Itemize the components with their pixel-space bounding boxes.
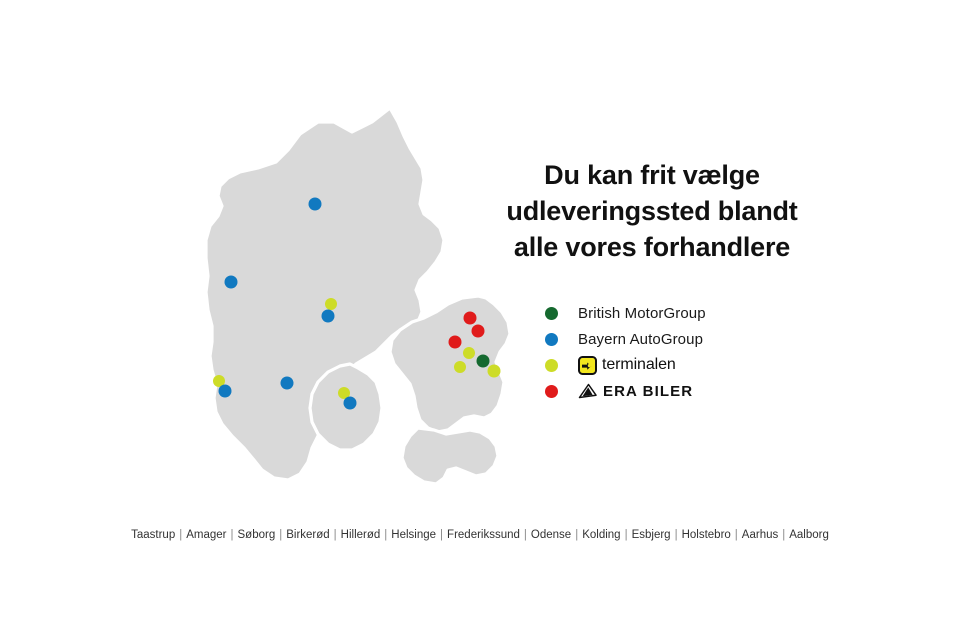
city-separator: | — [572, 529, 581, 541]
city-name: Kolding — [581, 529, 621, 541]
city-name: Odense — [530, 529, 572, 541]
city-name: Aalborg — [788, 529, 830, 541]
map-marker-soborg[interactable] — [477, 355, 490, 368]
legend-dot-terminalen — [545, 359, 558, 372]
legend-label-british-motorgroup: British MotorGroup — [578, 305, 706, 322]
city-name: Birkerød — [285, 529, 330, 541]
era-biler-wordmark: ERA BILER — [603, 383, 693, 400]
infographic-canvas: Du kan frit vælge udleveringssted blandt… — [0, 0, 960, 640]
map-marker-birkerod[interactable] — [463, 347, 475, 359]
legend-item-terminalen[interactable]: terminalen — [545, 352, 845, 378]
terminalen-wordmark: terminalen — [602, 356, 676, 374]
city-name: Søborg — [237, 529, 277, 541]
legend-dot-british-motorgroup — [545, 307, 558, 320]
city-separator: | — [732, 529, 741, 541]
map-marker-helsinge[interactable] — [464, 312, 477, 325]
map-marker-amager[interactable] — [488, 365, 501, 378]
legend-item-bayern-autogroup[interactable]: Bayern AutoGroup — [545, 326, 845, 352]
city-name: Aarhus — [741, 529, 779, 541]
city-name: Esbjerg — [631, 529, 672, 541]
legend-dot-bayern-autogroup — [545, 333, 558, 346]
city-name: Amager — [185, 529, 227, 541]
map-marker-kolding[interactable] — [281, 377, 294, 390]
legend-dot-era-biler — [545, 385, 558, 398]
terminalen-mark-icon — [578, 356, 597, 375]
map-marker-hillerod[interactable] — [472, 325, 485, 338]
terminalen-logo: terminalen — [578, 356, 676, 375]
map-marker-taastrup[interactable] — [454, 361, 466, 373]
headline-line-1: Du kan frit vælge — [452, 157, 852, 193]
era-biler-logo: ERA BILER — [578, 383, 693, 400]
region-lolland-falster — [402, 428, 498, 484]
city-separator: | — [672, 529, 681, 541]
city-name: Hillerød — [340, 529, 382, 541]
city-separator: | — [521, 529, 530, 541]
city-name: Taastrup — [130, 529, 176, 541]
city-separator: | — [381, 529, 390, 541]
city-separator: | — [437, 529, 446, 541]
era-triangle-icon — [578, 383, 598, 399]
denmark-map-svg — [185, 95, 525, 495]
city-list: Taastrup|Amager|Søborg|Birkerød|Hillerød… — [0, 529, 960, 541]
city-separator: | — [176, 529, 185, 541]
headline-line-2: udleveringssted blandt — [452, 193, 852, 229]
city-separator: | — [228, 529, 237, 541]
legend-label-bayern-autogroup: Bayern AutoGroup — [578, 331, 703, 348]
denmark-map — [185, 95, 525, 495]
map-marker-frederikssund[interactable] — [449, 336, 462, 349]
city-separator: | — [779, 529, 788, 541]
brand-legend: British MotorGroup Bayern AutoGroup term… — [545, 300, 845, 404]
headline-line-3: alle vores forhandlere — [452, 229, 852, 265]
map-marker-aalborg[interactable] — [309, 198, 322, 211]
map-marker-holstebro[interactable] — [225, 276, 238, 289]
headline: Du kan frit vælge udleveringssted blandt… — [452, 157, 852, 265]
map-marker-esbjerg-bayern[interactable] — [219, 385, 232, 398]
map-marker-aarhus-bayern[interactable] — [322, 310, 335, 323]
map-marker-aarhus-terminalen[interactable] — [325, 298, 337, 310]
city-separator: | — [276, 529, 285, 541]
city-separator: | — [622, 529, 631, 541]
city-name: Holstebro — [681, 529, 732, 541]
city-name: Helsinge — [390, 529, 437, 541]
map-marker-odense-bayern[interactable] — [344, 397, 357, 410]
legend-item-era-biler[interactable]: ERA BILER — [545, 378, 845, 404]
legend-item-british-motorgroup[interactable]: British MotorGroup — [545, 300, 845, 326]
city-name: Frederikssund — [446, 529, 521, 541]
city-separator: | — [331, 529, 340, 541]
